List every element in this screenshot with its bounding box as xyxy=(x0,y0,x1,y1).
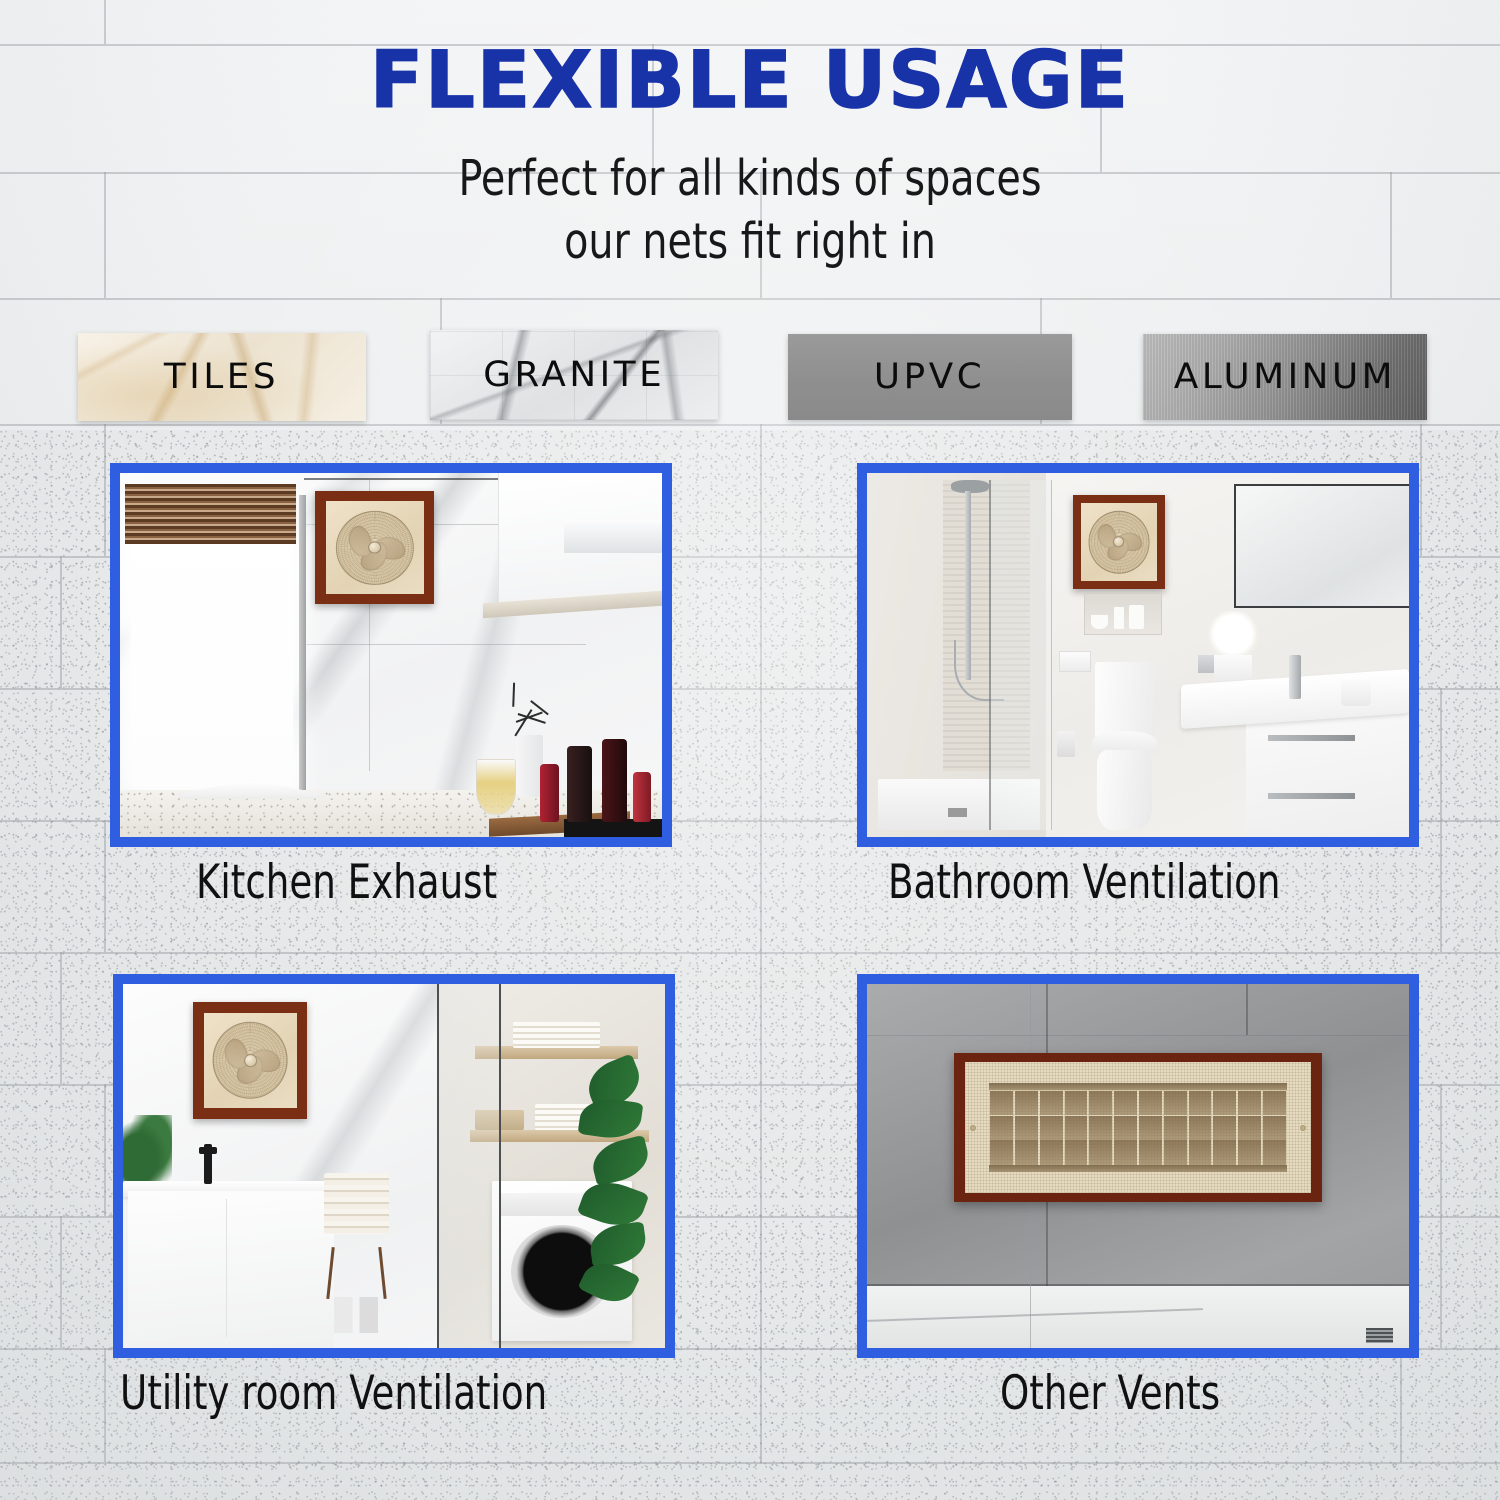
caption-bathroom-ventilation: Bathroom Ventilation xyxy=(888,855,1281,910)
material-badge-aluminum: ALUMINUM xyxy=(1143,334,1427,420)
plant-decor xyxy=(578,1057,665,1319)
material-label-granite: GRANITE xyxy=(483,355,665,395)
exhaust-fan-icon xyxy=(193,1002,307,1118)
page-title: FLEXIBLE USAGE xyxy=(0,42,1500,120)
infographic-page: FLEXIBLE USAGE Perfect for all kinds of … xyxy=(0,0,1500,1500)
wall-niche xyxy=(1084,593,1162,635)
caption-utility-room-ventilation: Utility room Ventilation xyxy=(120,1366,547,1421)
use-case-photo-bathroom xyxy=(857,463,1419,847)
material-label-tiles: TILES xyxy=(164,357,279,397)
page-subtitle: Perfect for all kinds of spaces our nets… xyxy=(75,148,1425,273)
use-case-photo-other-vents xyxy=(857,974,1419,1358)
flower-branch-decor xyxy=(478,670,570,743)
use-case-photo-utility-room xyxy=(113,974,675,1358)
towel-stool xyxy=(324,1173,389,1304)
use-case-photo-kitchen xyxy=(110,463,672,847)
vent-grille-icon xyxy=(954,1053,1323,1202)
subtitle-line-2: our nets fit right in xyxy=(75,211,1425,274)
material-label-upvc: UPVC xyxy=(874,357,985,397)
subtitle-line-1: Perfect for all kinds of spaces xyxy=(75,148,1425,211)
caption-kitchen-exhaust: Kitchen Exhaust xyxy=(196,855,497,910)
exhaust-fan-icon xyxy=(315,491,434,604)
material-label-aluminum: ALUMINUM xyxy=(1174,357,1396,397)
exhaust-fan-icon xyxy=(1073,495,1165,590)
material-badge-granite: GRANITE xyxy=(430,330,718,420)
material-badge-upvc: UPVC xyxy=(788,334,1072,420)
material-badge-tiles: TILES xyxy=(78,333,366,421)
caption-other-vents: Other Vents xyxy=(1000,1366,1220,1421)
